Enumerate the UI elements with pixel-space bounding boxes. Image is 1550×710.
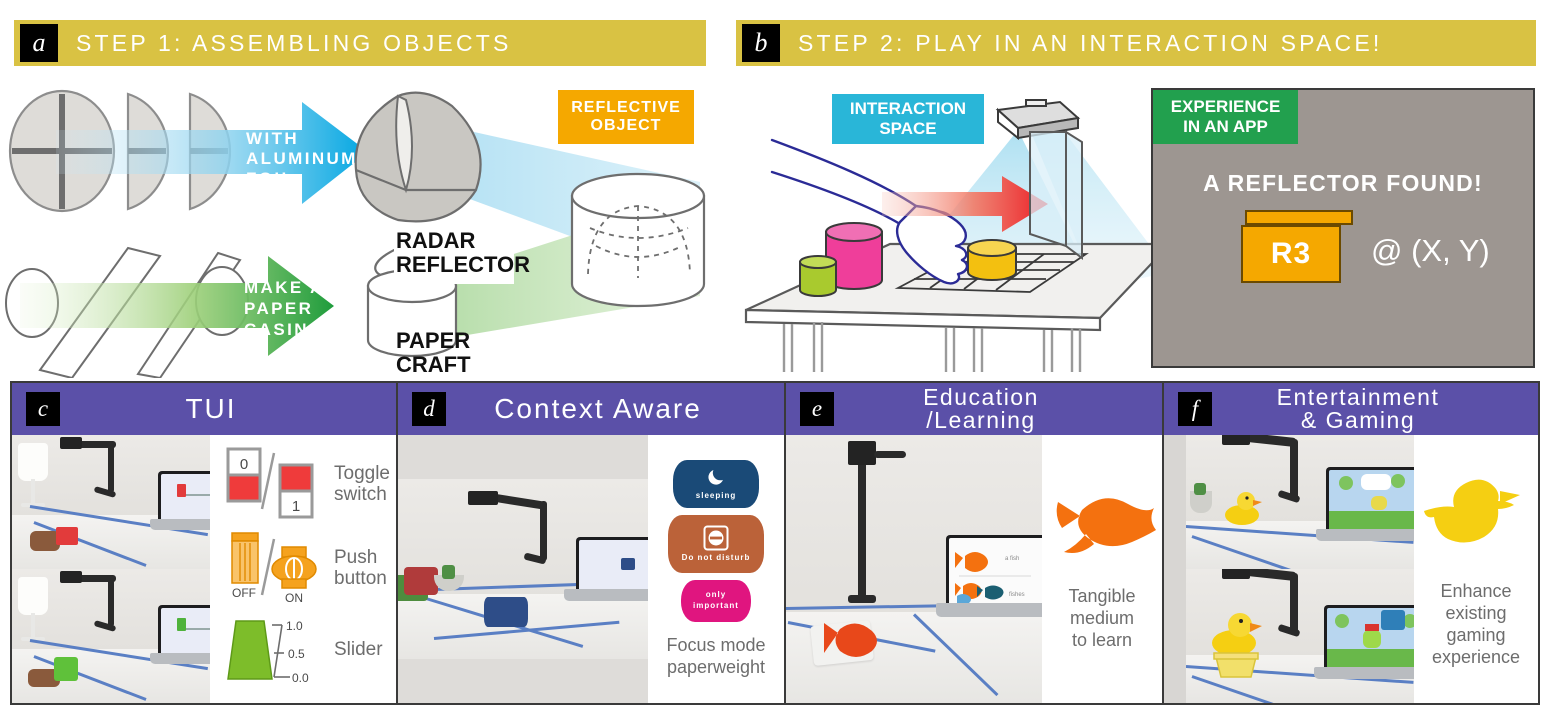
paperweight-puck xyxy=(484,597,528,627)
focus-mode-caption: Focus mode paperweight xyxy=(666,635,765,679)
rubber-duck-icon xyxy=(1416,469,1536,565)
legend-push-button-label: Push button xyxy=(334,547,387,590)
focus-chip-do-not-disturb-label: Do not disturb xyxy=(682,553,751,562)
focus-chip-only-important: only important xyxy=(681,580,751,622)
panel-c-tui: c TUI xyxy=(12,383,398,703)
moon-icon xyxy=(705,467,727,489)
slider-tick-3: 0.0 xyxy=(292,671,309,685)
push-state-off: OFF xyxy=(232,586,256,600)
legend-push-button: OFF ON Push button xyxy=(224,531,387,605)
chip-experience-in-an-app: EXPERIENCE IN AN APP xyxy=(1153,90,1298,144)
tui-legend-card: 0 1 Toggle switch xyxy=(210,435,396,703)
reflector-tag-label: R3 xyxy=(1271,237,1311,271)
panel-f-header: f Entertainment & Gaming xyxy=(1164,383,1538,435)
chip-experience-in-an-app-label: EXPERIENCE IN AN APP xyxy=(1171,97,1281,136)
chip-reflective-object-label: REFLECTIVE OBJECT xyxy=(571,99,681,134)
panel-d-header: d Context Aware xyxy=(398,383,784,435)
panel-f-entertainment-gaming: f Entertainment & Gaming xyxy=(1164,383,1538,703)
focus-chip-only-important-label: only important xyxy=(693,590,739,611)
banner-step-2: b STEP 2: PLAY IN AN INTERACTION SPACE! xyxy=(736,20,1536,66)
camera-icon xyxy=(1222,569,1250,579)
svg-text:ALUMINUM: ALUMINUM xyxy=(246,149,358,168)
camera-icon xyxy=(60,437,82,449)
panel-f-body: Enhance existing gaming experience xyxy=(1164,435,1538,703)
panel-c-body: 0 1 Toggle switch xyxy=(12,435,396,703)
svg-text:WITH: WITH xyxy=(246,129,299,148)
banner-step-1: a STEP 1: ASSEMBLING OBJECTS xyxy=(14,20,706,66)
panel-f-title: Entertainment & Gaming xyxy=(1178,386,1538,432)
education-caption: Tangible medium to learn xyxy=(1068,586,1135,652)
app-result-row: R3 @ (X, Y) xyxy=(1241,210,1490,283)
svg-text:PAPER: PAPER xyxy=(244,299,313,318)
focus-mode-card: sleeping Do not disturb only important F… xyxy=(648,435,784,703)
reflector-tag-lid xyxy=(1245,210,1353,225)
photo-education-fish: a fish fishes xyxy=(786,435,1042,703)
panel-d-context-aware: d Context Aware xyxy=(398,383,786,703)
focus-chip-do-not-disturb: Do not disturb xyxy=(668,515,764,573)
slider-tick-1: 1.0 xyxy=(286,619,303,633)
photo-tui-red-block xyxy=(12,435,210,703)
panel-e-header: e Education /Learning xyxy=(786,383,1162,435)
camera-icon xyxy=(468,491,498,505)
photo-gaming-duck xyxy=(1164,435,1414,703)
panel-letter-a: a xyxy=(20,24,58,62)
education-caption-card: Tangible medium to learn xyxy=(1042,435,1162,703)
app-mock-frame: EXPERIENCE IN AN APP A REFLECTOR FOUND! … xyxy=(1151,88,1535,368)
toggle-state-1: 1 xyxy=(292,498,300,515)
focus-chip-sleeping: sleeping xyxy=(673,460,759,508)
application-panels-strip: c TUI xyxy=(10,381,1540,705)
push-state-on: ON xyxy=(285,591,303,605)
panel-letter-e: e xyxy=(800,392,834,426)
legend-toggle-switch-label: Toggle switch xyxy=(334,463,390,506)
photo-context-aware-desk xyxy=(398,435,648,703)
panel-e-education-learning: e Education /Learning a fish xyxy=(786,383,1164,703)
screen-label-a-fish: a fish xyxy=(1005,556,1019,562)
panel-letter-f: f xyxy=(1178,392,1212,426)
focus-chip-sleeping-label: sleeping xyxy=(696,491,736,500)
do-not-disturb-icon xyxy=(703,525,729,551)
legend-toggle-switch: 0 1 Toggle switch xyxy=(224,447,390,521)
svg-text:FOIL: FOIL xyxy=(246,169,294,188)
laptop-fish-screen: a fish fishes xyxy=(949,538,1042,606)
panel-letter-c: c xyxy=(26,392,60,426)
gaming-caption: Enhance existing gaming experience xyxy=(1432,581,1520,669)
panel-d-title: Context Aware xyxy=(412,395,784,423)
app-coords: @ (X, Y) xyxy=(1371,233,1490,269)
toggle-switch-icon: 0 1 xyxy=(224,447,324,521)
label-paper-craft-line1: PAPER xyxy=(396,328,470,353)
label-paper-craft-line2: CRAFT xyxy=(396,352,471,377)
lamp-icon xyxy=(18,577,48,615)
chip-interaction-space: INTERACTION SPACE xyxy=(832,94,984,144)
camera-icon xyxy=(1222,435,1250,445)
label-radar-reflector-line2: REFLECTOR xyxy=(396,252,530,277)
step-1-title: STEP 1: ASSEMBLING OBJECTS xyxy=(76,30,512,57)
panel-d-body: sleeping Do not disturb only important F… xyxy=(398,435,784,703)
app-headline: A REFLECTOR FOUND! xyxy=(1153,170,1533,197)
panel-c-title: TUI xyxy=(26,395,396,423)
label-radar-reflector-line1: RADAR xyxy=(396,228,476,253)
camera-icon xyxy=(848,441,876,465)
paper-fish-object xyxy=(816,615,892,665)
slider-icon: 1.0 0.5 0.0 xyxy=(224,615,324,685)
reflector-tag: R3 xyxy=(1241,210,1353,283)
panel-letter-d: d xyxy=(412,392,446,426)
panel-letter-b: b xyxy=(742,24,780,62)
goldfish-icon xyxy=(1042,486,1162,564)
rubber-duck-object xyxy=(1220,487,1266,527)
chip-interaction-space-label: INTERACTION SPACE xyxy=(850,99,966,138)
step-2-title: STEP 2: PLAY IN AN INTERACTION SPACE! xyxy=(798,30,1383,57)
panel-c-header: c TUI xyxy=(12,383,396,435)
push-button-icon: OFF ON xyxy=(224,531,324,605)
panel-e-body: a fish fishes xyxy=(786,435,1162,703)
slider-tick-2: 0.5 xyxy=(288,647,305,661)
toggle-state-0: 0 xyxy=(240,456,248,473)
legend-slider: 1.0 0.5 0.0 Slider xyxy=(224,615,383,685)
svg-text:CASING: CASING xyxy=(244,320,325,339)
camera-icon xyxy=(60,571,82,583)
svg-text:MAKE A: MAKE A xyxy=(244,278,325,297)
rubber-duck-on-reflector-object xyxy=(1204,609,1270,681)
chip-reflective-object: REFLECTIVE OBJECT xyxy=(558,90,694,144)
panel-e-title: Education /Learning xyxy=(800,386,1162,432)
lamp-icon xyxy=(18,443,48,481)
legend-slider-label: Slider xyxy=(334,639,383,660)
gaming-caption-card: Enhance existing gaming experience xyxy=(1414,435,1538,703)
reflector-tag-body: R3 xyxy=(1241,225,1341,283)
screen-label-fishes: fishes xyxy=(1009,592,1025,598)
